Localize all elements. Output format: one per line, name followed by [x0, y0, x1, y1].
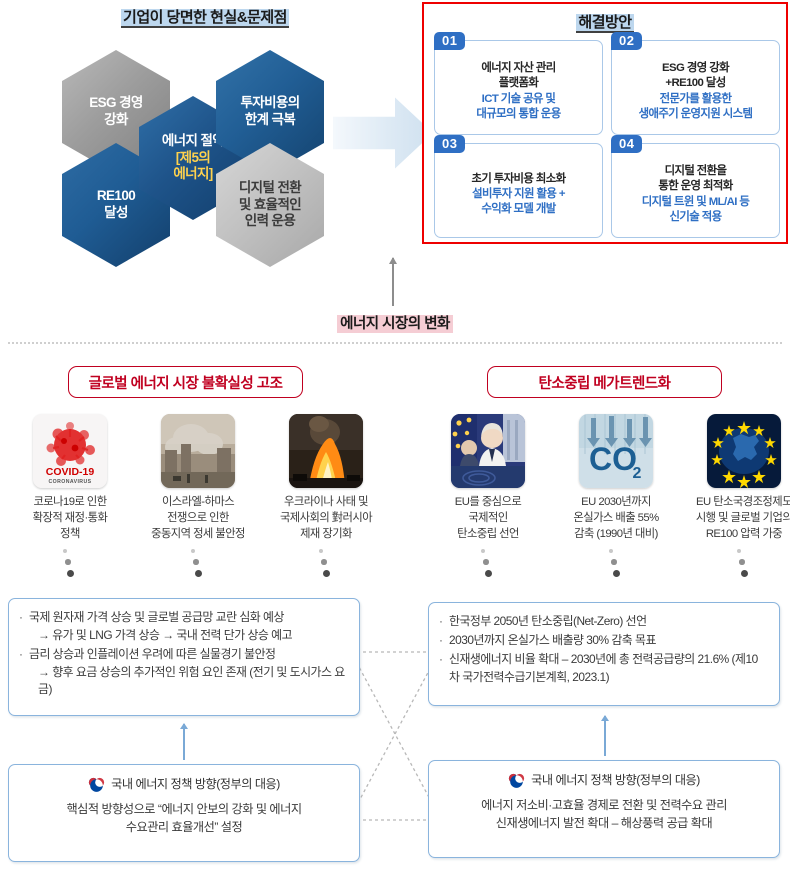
bullet-text: 국제 원자재 가격 상승 및 글로벌 공급망 교란 심화 예상 → 유가 및 L… — [29, 609, 347, 645]
solution-card-03[interactable]: 03 초기 투자비용 최소화 설비투자 지원 활용 + 수익화 모델 개발 — [434, 143, 603, 238]
solutions-title: 해결방안 — [424, 11, 786, 32]
caption-line: 전쟁으로 인한 — [167, 512, 229, 524]
policy-line: 에너지 저소비·고효율 경제로 전환 및 전력수요 관리 — [481, 798, 727, 812]
caption-line: 우크라이나 사태 및 — [284, 496, 368, 508]
connector-dots — [60, 549, 80, 583]
left-policy-heading: 국내 에너지 정책 방향(정부의 대응) — [19, 774, 349, 792]
right-column-header: 탄소중립 메가트렌드화 — [487, 366, 722, 398]
solution-02-line4: 생애주기 운영지원 시스템 — [639, 107, 753, 122]
solution-badge-01: 01 — [434, 32, 465, 50]
hexagon-investment-label: 투자비용의한계 극복 — [240, 95, 299, 129]
caption-line: 제재 장기화 — [300, 528, 352, 540]
fire-blast-photo — [289, 414, 363, 488]
left-policy-box: 국내 에너지 정책 방향(정부의 대응) 핵심적 방향성으로 “에너지 안보의 … — [8, 764, 360, 862]
connector-dots — [188, 549, 208, 583]
caption-line: 정책 — [60, 528, 80, 540]
flow-arrow-up-icon — [392, 258, 394, 306]
bullet-text: 금리 상승과 인플레이션 우려에 따른 실물경기 불안정 → 향후 요금 상승의… — [29, 646, 347, 700]
svg-text:COVID-19: COVID-19 — [46, 466, 95, 478]
solution-body-04: 디지털 전환을 통한 운영 최적화 디지털 트윈 및 ML/AI 등 신기술 적… — [642, 158, 749, 224]
hexagon-digital-label: 디지털 전환및 효율적인인력 운용 — [239, 180, 301, 231]
left-policy-body: 핵심적 방향성으로 “에너지 안보의 강화 및 에너지 수요관리 효율개선” 설… — [19, 800, 349, 837]
svg-text:CORONAVIRUS: CORONAVIRUS — [49, 479, 92, 485]
middle-section-title: 에너지 시장의 변화 — [0, 312, 790, 333]
korea-flag-icon — [88, 775, 105, 792]
solution-badge-04: 04 — [611, 135, 642, 153]
bullet-marker: · — [439, 632, 449, 650]
solution-badge-03: 03 — [434, 135, 465, 153]
connector-dots — [478, 549, 498, 583]
right-policy-heading-text: 국내 에너지 정책 방향(정부의 대응) — [531, 770, 700, 788]
bullet-marker: · — [439, 613, 449, 631]
solution-03-line3: 설비투자 지원 활용 + — [471, 187, 565, 202]
bullet-text: 신재생에너지 비율 확대 – 2030년에 총 전력공급량의 21.6% (제1… — [449, 651, 767, 687]
solutions-title-text: 해결방안 — [576, 14, 633, 33]
solution-04-line2: 통한 운영 최적화 — [642, 179, 749, 194]
korea-flag-icon — [508, 771, 525, 788]
solution-01-line4: 대규모의 통합 운용 — [476, 107, 560, 122]
solution-02-line3: 전문가를 활용한 — [639, 92, 753, 107]
caption-line: 확장적 재정·통화 — [33, 512, 108, 524]
solutions-panel: 해결방안 01 에너지 자산 관리 플랫폼화 ICT 기술 공유 및 대규모의 … — [422, 2, 788, 244]
solution-01-line1: 에너지 자산 관리 — [476, 61, 560, 76]
caption-line: 국제적인 — [468, 512, 507, 524]
hexagon-energy-saving-label: 에너지 절약[제5의에너지] — [162, 133, 224, 184]
solution-card-01[interactable]: 01 에너지 자산 관리 플랫폼화 ICT 기술 공유 및 대규모의 통합 운용 — [434, 40, 603, 135]
caption-line: 이스라엘-하마스 — [162, 496, 234, 508]
caption-line: 탄소중립 선언 — [457, 528, 519, 540]
solution-03-line4: 수익화 모델 개발 — [471, 202, 565, 217]
solution-body-01: 에너지 자산 관리 플랫폼화 ICT 기술 공유 및 대규모의 통합 운용 — [476, 55, 560, 121]
bullet-text: 2030년까지 온실가스 배출량 30% 감축 목표 — [449, 632, 767, 650]
covid-virus-photo: COVID-19 CORONAVIRUS — [33, 414, 107, 488]
left-policy-content: 국내 에너지 정책 방향(정부의 대응) 핵심적 방향성으로 “에너지 안보의 … — [9, 765, 359, 847]
bullet-item: · 금리 상승과 인플레이션 우려에 따른 실물경기 불안정 → 향후 요금 상… — [19, 646, 347, 700]
co2-emissions-icon: CO 2 — [579, 414, 653, 488]
policy-line: 핵심적 방향성으로 “에너지 안보의 강화 및 에너지 — [66, 802, 301, 816]
right-bullets-list: · 한국정부 2050년 탄소중립(Net-Zero) 선언 · 2030년까지… — [429, 603, 779, 695]
solution-02-line2: +RE100 달성 — [639, 76, 753, 91]
policy-line: 신재생에너지 발전 확대 – 해상풍력 공급 확대 — [496, 816, 712, 830]
connector-dots — [734, 549, 754, 583]
connector-dots — [316, 549, 336, 583]
right-photo-trio: EU를 중심으로 국제적인 탄소중립 선언 — [424, 414, 790, 583]
right-policy-box: 국내 에너지 정책 방향(정부의 대응) 에너지 저소비·고효율 경제로 전환 … — [428, 760, 780, 858]
caption-line: RE100 압력 가중 — [706, 528, 782, 540]
bullet-marker: · — [19, 646, 29, 700]
bullet-main: 금리 상승과 인플레이션 우려에 따른 실물경기 불안정 — [29, 647, 276, 661]
photo-cell-covid: COVID-19 CORONAVIRUS 코로나19로 인한 확장적 재정·통화… — [6, 414, 134, 583]
caption-line: EU를 중심으로 — [455, 496, 521, 508]
section-divider — [8, 342, 782, 344]
covid-virus-icon: COVID-19 CORONAVIRUS — [33, 414, 107, 488]
photo-caption-ukraine: 우크라이나 사태 및 국제사회의 對러시아 제재 장기화 — [280, 494, 372, 542]
solution-card-04[interactable]: 04 디지털 전환을 통한 운영 최적화 디지털 트윈 및 ML/AI 등 신기… — [611, 143, 780, 238]
right-policy-heading: 국내 에너지 정책 방향(정부의 대응) — [439, 770, 769, 788]
solutions-grid: 01 에너지 자산 관리 플랫폼화 ICT 기술 공유 및 대규모의 통합 운용… — [434, 40, 780, 238]
war-explosion-icon — [161, 414, 235, 488]
solution-04-line3: 디지털 트윈 및 ML/AI 등 — [642, 195, 749, 210]
hexagon-cluster: ESG 경영강화 RE100달성 에너지 절약[제5의에너지] 투자비용의한계 … — [0, 40, 340, 240]
left-policy-heading-text: 국내 에너지 정책 방향(정부의 대응) — [111, 774, 280, 792]
connector-dots — [606, 549, 626, 583]
hexagon-esg-label: ESG 경영강화 — [89, 95, 143, 129]
eu-flag-map-icon — [707, 414, 781, 488]
photo-cell-eu-leader: EU를 중심으로 국제적인 탄소중립 선언 — [424, 414, 552, 583]
left-panel-title: 기업이 당면한 현실&문제점 — [0, 6, 410, 27]
bullet-item: · 신재생에너지 비율 확대 – 2030년에 총 전력공급량의 21.6% (… — [439, 651, 767, 687]
photo-cell-war: 이스라엘-하마스 전쟁으로 인한 중동지역 정세 불안정 — [134, 414, 262, 583]
photo-cell-ukraine: 우크라이나 사태 및 국제사회의 對러시아 제재 장기화 — [262, 414, 390, 583]
photo-cell-co2: CO 2 EU 2030년까지 온실가스 배출 55% 감축 (1990년 대비… — [552, 414, 680, 583]
caption-line: 국제사회의 對러시아 — [280, 512, 372, 524]
bullet-marker: · — [439, 651, 449, 687]
left-column-header: 글로벌 에너지 시장 불확실성 고조 — [68, 366, 303, 398]
bullet-marker: · — [19, 609, 29, 645]
photo-caption-eu-leader: EU를 중심으로 국제적인 탄소중립 선언 — [455, 494, 521, 542]
bullet-main: 국제 원자재 가격 상승 및 글로벌 공급망 교란 심화 예상 — [29, 610, 284, 624]
fire-blast-icon — [289, 414, 363, 488]
right-up-arrow-icon — [604, 716, 606, 756]
svg-text:2: 2 — [633, 465, 642, 482]
photo-caption-eu-flag: EU 탄소국경조정제도 시행 및 글로벌 기업의 RE100 압력 가중 — [696, 494, 790, 542]
caption-line: EU 탄소국경조정제도 — [696, 496, 790, 508]
policy-line: 수요관리 효율개선” 설정 — [126, 820, 242, 834]
right-bullets-box: · 한국정부 2050년 탄소중립(Net-Zero) 선언 · 2030년까지… — [428, 602, 780, 706]
left-panel-title-text: 기업이 당면한 현실&문제점 — [121, 9, 289, 28]
eu-flag-map-photo — [707, 414, 781, 488]
eu-leader-podium-icon — [451, 414, 525, 488]
middle-section-title-text: 에너지 시장의 변화 — [337, 315, 453, 333]
right-policy-body: 에너지 저소비·고효율 경제로 전환 및 전력수요 관리 신재생에너지 발전 확… — [439, 796, 769, 833]
caption-line: 코로나19로 인한 — [33, 496, 106, 508]
solution-04-line4: 신기술 적용 — [642, 210, 749, 225]
left-bullets-list: · 국제 원자재 가격 상승 및 글로벌 공급망 교란 심화 예상 → 유가 및… — [9, 599, 359, 708]
caption-line: 시행 및 글로벌 기업의 — [696, 512, 790, 524]
bullet-item: · 2030년까지 온실가스 배출량 30% 감축 목표 — [439, 632, 767, 650]
bullet-item: · 한국정부 2050년 탄소중립(Net-Zero) 선언 — [439, 613, 767, 631]
solution-body-03: 초기 투자비용 최소화 설비투자 지원 활용 + 수익화 모델 개발 — [471, 166, 565, 217]
solution-card-02[interactable]: 02 ESG 경영 강화 +RE100 달성 전문가를 활용한 생애주기 운영지… — [611, 40, 780, 135]
photo-caption-covid: 코로나19로 인한 확장적 재정·통화 정책 — [33, 494, 108, 542]
caption-line: 중동지역 정세 불안정 — [151, 528, 245, 540]
bullet-text: 한국정부 2050년 탄소중립(Net-Zero) 선언 — [449, 613, 767, 631]
right-column-header-text: 탄소중립 메가트렌드화 — [539, 372, 671, 393]
right-policy-content: 국내 에너지 정책 방향(정부의 대응) 에너지 저소비·고효율 경제로 전환 … — [429, 761, 779, 843]
solution-body-02: ESG 경영 강화 +RE100 달성 전문가를 활용한 생애주기 운영지원 시… — [639, 55, 753, 121]
war-explosion-photo — [161, 414, 235, 488]
solution-03-line1: 초기 투자비용 최소화 — [471, 172, 565, 187]
solution-badge-02: 02 — [611, 32, 642, 50]
solution-04-line1: 디지털 전환을 — [642, 164, 749, 179]
photo-caption-war: 이스라엘-하마스 전쟁으로 인한 중동지역 정세 불안정 — [151, 494, 245, 542]
co2-emissions-photo: CO 2 — [579, 414, 653, 488]
svg-text:CO: CO — [589, 441, 637, 477]
hexagon-re100-label: RE100달성 — [97, 188, 135, 222]
left-photo-trio: COVID-19 CORONAVIRUS 코로나19로 인한 확장적 재정·통화… — [6, 414, 390, 583]
solution-02-line1: ESG 경영 강화 — [639, 61, 753, 76]
solution-01-line2: 플랫폼화 — [476, 76, 560, 91]
left-bullets-box: · 국제 원자재 가격 상승 및 글로벌 공급망 교란 심화 예상 → 유가 및… — [8, 598, 360, 716]
eu-leader-podium-photo — [451, 414, 525, 488]
photo-caption-co2: EU 2030년까지 온실가스 배출 55% 감축 (1990년 대비) — [573, 494, 658, 542]
flow-arrow-right-icon — [333, 96, 433, 170]
left-column-header-text: 글로벌 에너지 시장 불확실성 고조 — [89, 372, 283, 393]
caption-line: EU 2030년까지 — [581, 496, 651, 508]
solution-01-line3: ICT 기술 공유 및 — [476, 92, 560, 107]
left-up-arrow-icon — [183, 724, 185, 760]
caption-line: 온실가스 배출 55% — [573, 512, 658, 524]
photo-cell-eu-flag: EU 탄소국경조정제도 시행 및 글로벌 기업의 RE100 압력 가중 — [680, 414, 790, 583]
bullet-sub: → 유가 및 LNG 가격 상승 → 국내 전력 단가 상승 예고 — [29, 627, 347, 645]
bullet-sub: → 향후 요금 상승의 추가적인 위험 요인 존재 (전기 및 도시가스 요금) — [29, 664, 347, 700]
caption-line: 감축 (1990년 대비) — [574, 528, 658, 540]
bullet-item: · 국제 원자재 가격 상승 및 글로벌 공급망 교란 심화 예상 → 유가 및… — [19, 609, 347, 645]
